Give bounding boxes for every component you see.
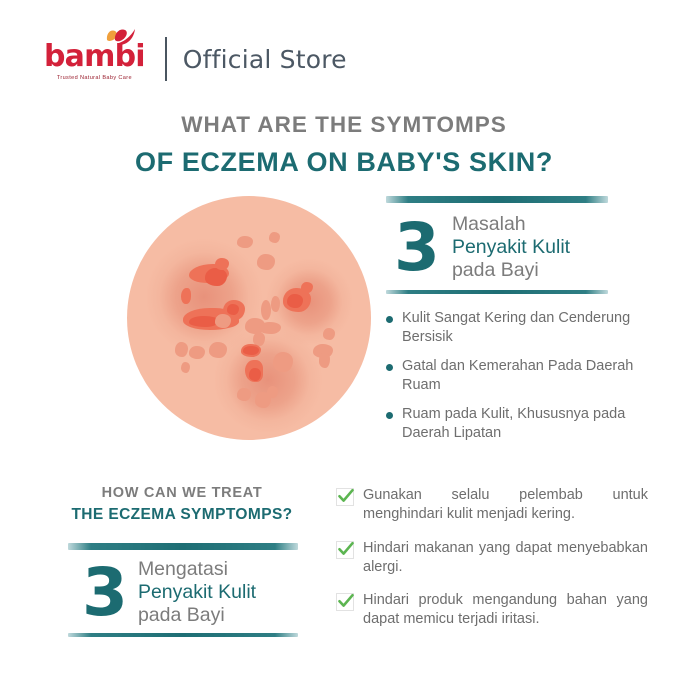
- treatment-text: Hindari makanan yang dapat menyebabkan a…: [363, 539, 648, 577]
- symptom-text: Kulit Sangat Kering dan Cenderung Bersis…: [402, 309, 636, 346]
- rash-spot: [319, 352, 330, 368]
- rash-spot: [227, 304, 239, 315]
- list-item: Ruam pada Kulit, Khususnya pada Daerah L…: [386, 405, 636, 442]
- rash-spot: [205, 268, 227, 286]
- baby-skin-eczema-illustration: [127, 196, 371, 440]
- check-icon: [336, 541, 354, 559]
- rash-spot: [181, 288, 191, 304]
- treatment-text: Hindari produk mengandung bahan yang dap…: [363, 591, 648, 629]
- rash-patch-bottom: [213, 326, 323, 434]
- symptoms-count: 3: [394, 215, 438, 281]
- rule-bottom: [68, 633, 298, 637]
- rash-spot: [267, 386, 278, 398]
- rash-spot: [249, 368, 261, 381]
- logo-tagline: Trusted Natural Baby Care: [57, 75, 132, 81]
- treatment-heading: HOW CAN WE TREAT THE ECZEMA SYMPTOMPS?: [42, 485, 322, 524]
- rule-top: [386, 196, 608, 203]
- list-item: Hindari makanan yang dapat menyebabkan a…: [336, 539, 648, 577]
- treatment-list: Gunakan selalu pelembab untuk menghindar…: [336, 486, 648, 644]
- page-title: WHAT ARE THE SYMTOMPS OF ECZEMA ON BABY'…: [0, 113, 688, 178]
- bullet-dot-icon: [386, 364, 393, 371]
- list-item: Gunakan selalu pelembab untuk menghindar…: [336, 486, 648, 524]
- rash-spot: [301, 282, 313, 293]
- symptom-text: Gatal dan Kemerahan Pada Daerah Ruam: [402, 357, 636, 394]
- list-item: Hindari produk mengandung bahan yang dap…: [336, 591, 648, 629]
- check-icon: [336, 488, 354, 506]
- rash-spot: [257, 254, 275, 270]
- rule-top: [68, 543, 298, 550]
- rash-spot: [209, 342, 227, 358]
- list-item: Kulit Sangat Kering dan Cenderung Bersis…: [386, 309, 636, 346]
- rash-spot: [273, 352, 293, 372]
- rash-spot: [261, 300, 271, 320]
- rash-spot: [215, 314, 231, 328]
- rash-spot: [189, 346, 205, 359]
- list-item: Gatal dan Kemerahan Pada Daerah Ruam: [386, 357, 636, 394]
- rash-spot: [269, 232, 280, 243]
- treatment-text: Gunakan selalu pelembab untuk menghindar…: [363, 486, 648, 524]
- treatment-number-block: 3 Mengatasi Penyakit Kulit pada Bayi: [68, 543, 298, 637]
- symptom-text: Ruam pada Kulit, Khususnya pada Daerah L…: [402, 405, 636, 442]
- symptoms-label-line1: Masalah: [452, 213, 570, 236]
- butterfly-leaf-icon: [104, 27, 138, 47]
- treatment-heading-line1: HOW CAN WE TREAT: [42, 485, 322, 501]
- brand-header: bambi Trusted Natural Baby Care Official…: [44, 32, 347, 86]
- treatment-label-line2: Penyakit Kulit: [138, 581, 256, 604]
- rash-spot: [237, 388, 251, 401]
- symptoms-label-line2: Penyakit Kulit: [452, 236, 570, 259]
- rash-spot: [181, 362, 190, 373]
- header-divider: [165, 37, 167, 81]
- rash-spot: [323, 328, 335, 340]
- bullet-dot-icon: [386, 316, 393, 323]
- symptom-list: Kulit Sangat Kering dan Cenderung Bersis…: [386, 309, 636, 453]
- rash-spot: [243, 346, 259, 355]
- rash-spot: [271, 296, 280, 312]
- title-line-1: WHAT ARE THE SYMTOMPS: [0, 113, 688, 138]
- rash-spot: [287, 294, 303, 308]
- symptoms-number-block: 3 Masalah Penyakit Kulit pada Bayi: [386, 196, 608, 294]
- official-store-label: Official Store: [183, 45, 347, 74]
- treatment-heading-line2: THE ECZEMA SYMPTOMPS?: [42, 506, 322, 524]
- treatment-label-line3: pada Bayi: [138, 604, 256, 627]
- rash-spot: [237, 236, 253, 248]
- rash-spot: [175, 342, 188, 357]
- treatment-label-line1: Mengatasi: [138, 558, 256, 581]
- treatment-count: 3: [82, 560, 126, 626]
- title-line-2: OF ECZEMA ON BABY'S SKIN?: [0, 147, 688, 178]
- rule-bottom: [386, 290, 608, 294]
- bullet-dot-icon: [386, 412, 393, 419]
- bambi-logo[interactable]: bambi Trusted Natural Baby Care: [44, 38, 163, 81]
- symptoms-label-line3: pada Bayi: [452, 259, 570, 282]
- rash-spot: [215, 258, 229, 270]
- check-icon: [336, 593, 354, 611]
